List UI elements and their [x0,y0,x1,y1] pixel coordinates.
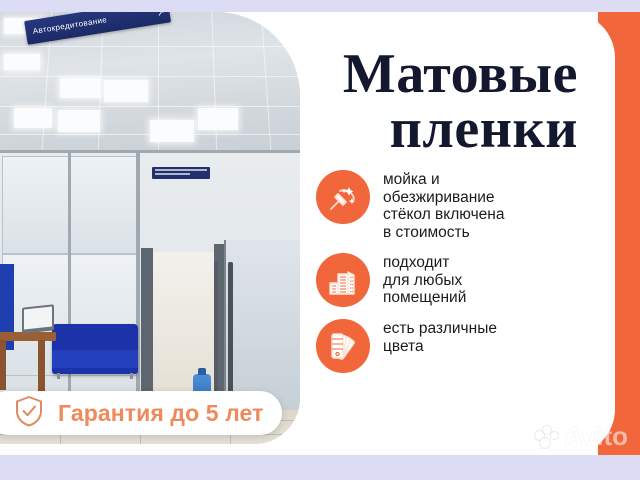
avito-watermark: Avito [535,421,628,452]
creative-canvas: Автокредитование ↗ [0,12,640,455]
wooden-desk [0,332,56,341]
feature-text-premises: подходит для любых помещений [383,253,466,307]
feature-line: стёкол включена [383,206,504,224]
feature-text-colors: есть различные цвета [383,319,497,355]
blue-sofa [52,324,138,374]
feature-text-cleaning: мойка и обезжиривание стёкол включена в … [383,170,504,241]
creative-banner: Автокредитование ↗ [0,0,640,480]
feature-line: помещений [383,289,466,307]
feature-line: есть различные [383,320,497,338]
door-handle [228,262,233,412]
arrow-icon: ↗ [156,12,165,19]
desk-leg [38,340,45,396]
overhead-sign-text: Автокредитование [32,15,108,36]
headline-line-2: пленки [248,102,578,157]
feature-line: обезжиривание [383,189,504,207]
feature-line: подходит [383,254,466,272]
feature-item-cleaning: мойка и обезжиривание стёкол включена в … [316,170,586,241]
avito-dots-logo [535,426,561,448]
letterbox-bottom [0,455,640,480]
feature-line: в стоимость [383,224,504,242]
feature-item-colors: есть различные цвета [316,319,586,373]
laptop [22,304,54,333]
shield-check-icon [14,395,44,432]
feature-line: цвета [383,338,497,356]
feature-item-premises: подходит для любых помещений [316,253,586,307]
headline-line-1: Матовые [248,47,578,102]
buildings-icon [316,253,370,307]
partition-sign [152,167,210,179]
feature-line: для любых [383,272,466,290]
squeegee-cleaning-icon [316,170,370,224]
feature-line: мойка и [383,171,504,189]
headline: Матовые пленки [248,47,578,157]
feature-list: мойка и обезжиривание стёкол включена в … [316,170,586,385]
door-handle-secondary [214,262,218,412]
letterbox-top [0,0,640,12]
color-fan-deck-icon [316,319,370,373]
desk-leg-secondary [0,340,6,390]
avito-wordmark: Avito [564,421,628,452]
guarantee-label: Гарантия до 5 лет [58,400,263,427]
guarantee-badge: Гарантия до 5 лет [0,391,282,435]
